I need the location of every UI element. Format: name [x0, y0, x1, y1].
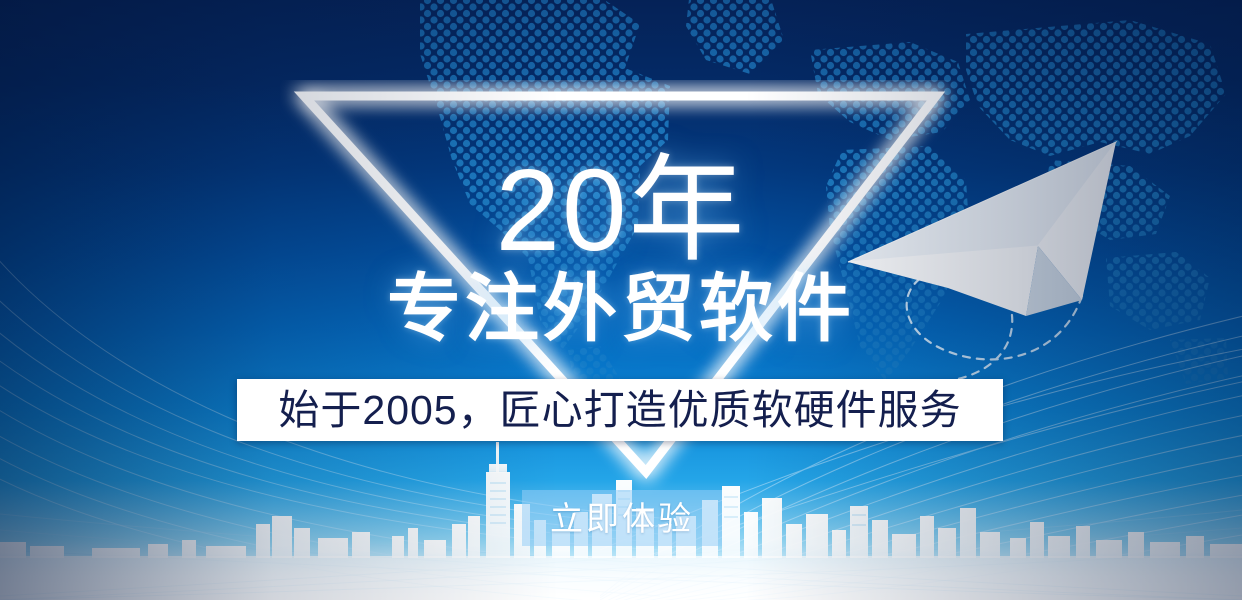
headline-year-text: 20年: [495, 152, 746, 268]
subtitle-banner-box: 始于2005，匠心打造优质软硬件服务: [237, 379, 1003, 441]
headline-focus: 专注外贸软件: [0, 272, 1242, 346]
headline-year: 20年: [0, 152, 1242, 268]
paper-plane-icon: [848, 142, 1116, 316]
experience-now-button[interactable]: 立即体验: [522, 490, 722, 546]
promo-banner: 20年 专注外贸软件 始于2005，匠心打造优质软硬件服务 立即体验: [0, 0, 1242, 600]
subtitle-text: 始于2005，匠心打造优质软硬件服务: [278, 390, 961, 431]
dot-world-map: [170, 0, 1230, 430]
cta-button-label: 立即体验: [550, 502, 694, 535]
headline-focus-text: 专注外贸软件: [387, 272, 855, 346]
